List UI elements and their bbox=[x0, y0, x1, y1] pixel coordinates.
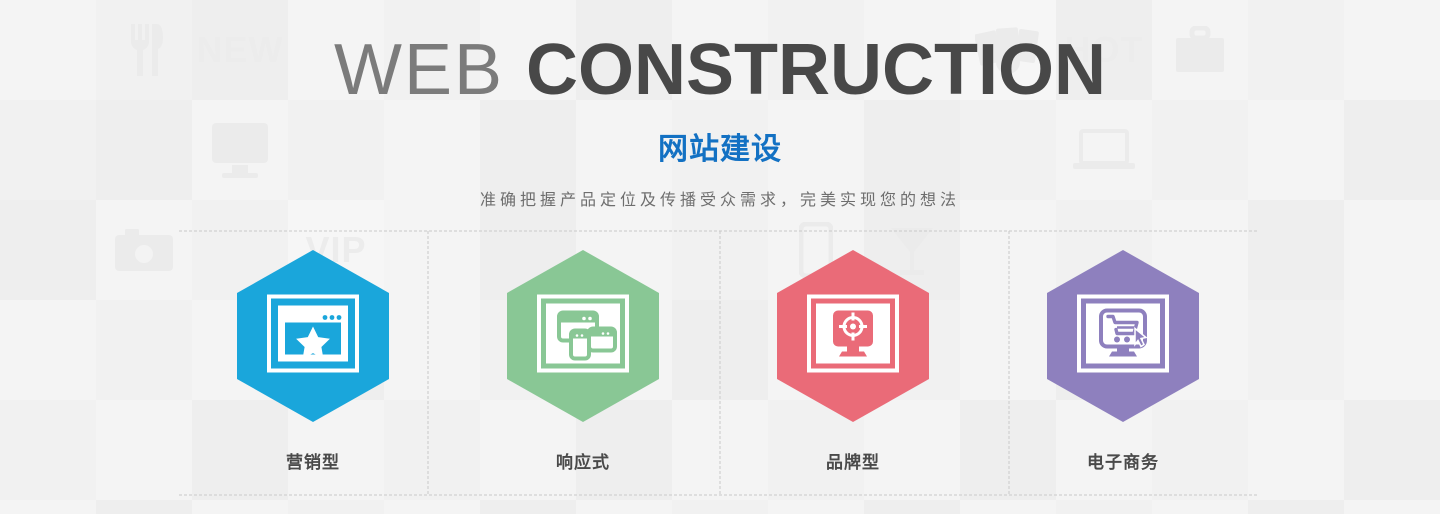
monitor-target-icon bbox=[807, 295, 899, 378]
card-label: 品牌型 bbox=[826, 448, 880, 473]
browser-star-icon bbox=[267, 295, 359, 378]
banner-heading: WEBCONSTRUCTION 网站建设 准确把握产品定位及传播受众需求，完美实… bbox=[0, 28, 1440, 210]
service-card-marketing[interactable]: 营销型 bbox=[178, 250, 448, 473]
bg-tile bbox=[1344, 200, 1440, 300]
card-label: 响应式 bbox=[556, 448, 610, 473]
bg-tile bbox=[0, 400, 96, 500]
service-card-ecommerce[interactable]: 电子商务 bbox=[988, 250, 1258, 473]
bg-tile bbox=[96, 500, 192, 514]
bg-tile bbox=[0, 500, 96, 514]
bg-tile bbox=[1344, 300, 1440, 400]
hexagon-badge bbox=[1047, 250, 1199, 422]
hexagon-badge bbox=[777, 250, 929, 422]
monitor-cart-icon bbox=[1077, 295, 1169, 378]
card-label: 电子商务 bbox=[1087, 448, 1159, 473]
bg-tile bbox=[1248, 400, 1344, 500]
bg-tile bbox=[0, 300, 96, 400]
web-construction-banner: NEW HOT bbox=[0, 0, 1440, 514]
card-label: 营销型 bbox=[286, 448, 340, 473]
bg-tile bbox=[288, 500, 384, 514]
bg-tile bbox=[768, 500, 864, 514]
service-card-responsive[interactable]: 响应式 bbox=[448, 250, 718, 473]
bg-tile bbox=[1248, 300, 1344, 400]
bg-tile bbox=[1344, 400, 1440, 500]
bg-tile bbox=[960, 500, 1056, 514]
hexagon-badge bbox=[237, 250, 389, 422]
bg-tile bbox=[576, 500, 672, 514]
bg-tile bbox=[480, 500, 576, 514]
bg-tile bbox=[672, 500, 768, 514]
bg-tile bbox=[1344, 500, 1440, 514]
bg-tile bbox=[384, 500, 480, 514]
responsive-devices-icon bbox=[537, 295, 629, 378]
camera-icon bbox=[115, 229, 173, 271]
title-primary: WEB bbox=[334, 30, 504, 110]
service-card-list: 营销型 bbox=[178, 250, 1258, 473]
bg-tile bbox=[0, 200, 96, 300]
dotted-divider-top bbox=[178, 230, 1258, 232]
bg-tile bbox=[192, 500, 288, 514]
bg-tile bbox=[1248, 200, 1344, 300]
bg-tile bbox=[864, 500, 960, 514]
service-card-brand[interactable]: 品牌型 bbox=[718, 250, 988, 473]
bg-tile bbox=[1056, 500, 1152, 514]
dotted-divider-bottom bbox=[178, 494, 1258, 496]
bg-tile bbox=[1248, 500, 1344, 514]
banner-subtitle: 准确把握产品定位及传播受众需求，完美实现您的想法 bbox=[0, 186, 1440, 210]
title-secondary: CONSTRUCTION bbox=[526, 30, 1106, 110]
title-chinese: 网站建设 bbox=[0, 124, 1440, 168]
page-title: WEBCONSTRUCTION bbox=[0, 28, 1440, 112]
bg-tile bbox=[1152, 500, 1248, 514]
hexagon-badge bbox=[507, 250, 659, 422]
